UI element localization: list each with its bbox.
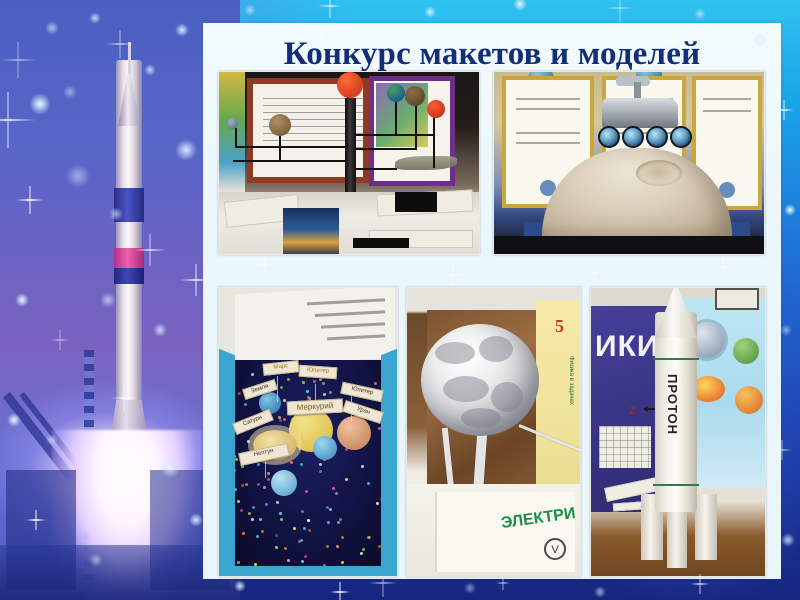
p1-planet-mars bbox=[427, 100, 445, 118]
glitter-speck bbox=[252, 506, 255, 509]
content-panel: Конкурс макетов и моделей bbox=[203, 23, 781, 579]
glitter-speck bbox=[341, 561, 344, 564]
photo-5-content: ИКИ 2 bbox=[591, 288, 765, 576]
glitter-speck bbox=[279, 419, 282, 422]
glitter-speck bbox=[376, 502, 379, 505]
p1-orbit-arm-1 bbox=[237, 146, 349, 148]
glitter-speck bbox=[303, 527, 306, 530]
glitter-speck bbox=[368, 536, 371, 539]
glitter-speck bbox=[337, 521, 340, 524]
glitter-speck bbox=[335, 492, 338, 495]
glitter-speck bbox=[293, 527, 296, 530]
p3-label-mercury: Меркурий bbox=[287, 399, 344, 416]
glitter-speck bbox=[305, 490, 308, 493]
glitter-speck bbox=[319, 463, 322, 466]
p3-planet-uranus bbox=[271, 470, 297, 496]
p5-drawn-planet-2 bbox=[733, 338, 759, 364]
p2-floor-shadow bbox=[494, 236, 764, 254]
glitter-speck bbox=[261, 530, 264, 533]
p3-planet-jupiter bbox=[337, 416, 371, 450]
star-sparkle bbox=[464, 582, 476, 594]
rocket-band-blue-lower bbox=[114, 268, 144, 284]
p5-wall-frame bbox=[715, 288, 759, 310]
p2-rover-body bbox=[602, 98, 678, 128]
glitter-speck bbox=[287, 559, 290, 562]
star-sparkle bbox=[330, 582, 350, 600]
glitter-speck bbox=[374, 382, 377, 385]
glitter-speck bbox=[237, 561, 240, 564]
glitter-speck bbox=[300, 463, 303, 466]
star-sparkle bbox=[606, 0, 634, 22]
p5-poster-number: 2 bbox=[629, 402, 636, 418]
glitter-speck bbox=[284, 547, 287, 550]
glitter-speck bbox=[327, 521, 330, 524]
p1-orbit-arm-2 bbox=[233, 160, 351, 162]
glitter-speck bbox=[241, 484, 244, 487]
photo-solar-system-mobile-model[interactable] bbox=[218, 71, 480, 255]
p5-poster-word-fiziki: ИКИ bbox=[595, 330, 659, 364]
glitter-speck bbox=[313, 380, 316, 383]
p1-color-poster bbox=[219, 72, 245, 192]
p5-rocket-ring-upper bbox=[653, 358, 699, 360]
glitter-speck bbox=[302, 381, 305, 384]
glitter-speck bbox=[267, 478, 270, 481]
glitter-speck bbox=[242, 532, 245, 535]
p1-space-photo-print bbox=[283, 208, 339, 255]
rocket-band-magenta bbox=[114, 248, 144, 268]
glitter-speck bbox=[251, 518, 254, 521]
glitter-speck bbox=[300, 539, 303, 542]
glitter-speck bbox=[307, 396, 310, 399]
p5-rocket-ring-lower bbox=[653, 484, 699, 486]
photo-gallery: Земля Марс Юпитер Юпитер Меркурий Сатурн… bbox=[203, 23, 781, 579]
glitter-speck bbox=[322, 382, 325, 385]
p2-moon-crater bbox=[636, 160, 682, 186]
glitter-speck bbox=[257, 483, 260, 486]
star-sparkle bbox=[694, 8, 706, 20]
p1-orbit-stem-5 bbox=[415, 100, 417, 150]
p4-yellow-poster: 5 Физика в задачах bbox=[536, 300, 580, 488]
p3-box-rim-left bbox=[219, 349, 235, 577]
glitter-speck bbox=[245, 483, 248, 486]
p4-circle-letter: V bbox=[544, 538, 566, 560]
p3-label-jupiter-top: Юпитер bbox=[299, 365, 338, 380]
p1-orbit-stem-6 bbox=[433, 112, 435, 168]
glitter-speck bbox=[301, 560, 304, 563]
p1-orbit-arm-5 bbox=[351, 168, 397, 170]
rocket-escape-tower bbox=[128, 42, 131, 74]
glitter-speck bbox=[265, 503, 268, 506]
slide-canvas: Конкурс макетов и моделей bbox=[0, 0, 800, 600]
p1-planet-neptune bbox=[387, 84, 405, 102]
photo-2-content bbox=[494, 72, 764, 254]
photo-3-content: Земля Марс Юпитер Юпитер Меркурий Сатурн… bbox=[219, 288, 397, 576]
p1-orbit-stem-1 bbox=[235, 128, 237, 148]
glitter-speck bbox=[339, 518, 342, 521]
glitter-speck bbox=[279, 512, 282, 515]
glitter-speck bbox=[283, 418, 286, 421]
glitter-speck bbox=[257, 463, 260, 466]
p3-planet-neptune bbox=[313, 436, 337, 460]
glitter-speck bbox=[307, 519, 310, 522]
p2-rover-wheel-1 bbox=[598, 126, 620, 148]
glitter-speck bbox=[263, 486, 266, 489]
glitter-speck bbox=[326, 545, 329, 548]
p1-planet-saturn bbox=[405, 86, 425, 106]
photo-1-content bbox=[219, 72, 479, 254]
p2-rover-wheel-2 bbox=[622, 126, 644, 148]
p2-rover-wheel-3 bbox=[646, 126, 668, 148]
glitter-speck bbox=[345, 478, 348, 481]
glitter-speck bbox=[235, 458, 238, 461]
p5-rocket-name-label: ПРОТОН bbox=[665, 374, 680, 435]
glitter-speck bbox=[259, 518, 262, 521]
glitter-speck bbox=[290, 461, 293, 464]
glitter-speck bbox=[319, 470, 322, 473]
glitter-speck bbox=[238, 392, 241, 395]
p1-orbit-stem-4 bbox=[395, 96, 397, 136]
glitter-speck bbox=[280, 518, 283, 521]
p1-airplane-model-photo bbox=[395, 156, 457, 170]
glitter-speck bbox=[251, 373, 254, 376]
glitter-speck bbox=[360, 552, 363, 555]
p5-drawn-planet-4 bbox=[735, 386, 763, 414]
glitter-speck bbox=[287, 378, 290, 381]
glitter-speck bbox=[304, 555, 307, 558]
glitter-speck bbox=[267, 472, 270, 475]
glitter-speck bbox=[367, 482, 370, 485]
glitter-speck bbox=[275, 534, 278, 537]
glitter-speck bbox=[276, 501, 279, 504]
glitter-speck bbox=[362, 548, 365, 551]
glitter-speck bbox=[278, 416, 281, 419]
star-sparkle bbox=[513, 0, 527, 11]
glitter-speck bbox=[244, 403, 247, 406]
p3-box-rim-right bbox=[381, 349, 397, 577]
p4-foil-sphere bbox=[421, 324, 539, 436]
glitter-speck bbox=[308, 529, 311, 532]
p2-rover-wheel-4 bbox=[670, 126, 692, 148]
photo-solar-system-diorama-box[interactable]: Земля Марс Юпитер Юпитер Меркурий Сатурн… bbox=[218, 287, 398, 577]
p3-label-stick-4 bbox=[299, 422, 300, 450]
glitter-speck bbox=[319, 378, 322, 381]
glitter-speck bbox=[240, 509, 243, 512]
p3-box-rim-bottom bbox=[219, 566, 398, 576]
glitter-speck bbox=[280, 386, 283, 389]
glitter-speck bbox=[301, 510, 304, 513]
p1-dark-card-1 bbox=[395, 192, 437, 212]
glitter-speck bbox=[329, 391, 332, 394]
p1-planet-jupiter bbox=[269, 114, 291, 136]
glitter-speck bbox=[306, 390, 309, 393]
p1-planet-small-1 bbox=[227, 118, 238, 129]
rocket-band-blue-upper bbox=[114, 188, 144, 222]
glitter-speck bbox=[237, 500, 240, 503]
glitter-speck bbox=[332, 487, 335, 490]
p4-poster-subject: Физика в задачах bbox=[568, 356, 574, 405]
p3-info-sheet bbox=[235, 287, 395, 366]
glitter-speck bbox=[329, 508, 332, 511]
p5-rocket-fin-right bbox=[695, 494, 717, 560]
p1-dark-card-2 bbox=[353, 238, 409, 248]
glitter-speck bbox=[341, 536, 344, 539]
glitter-speck bbox=[275, 546, 278, 549]
p1-orbit-arm-3 bbox=[351, 134, 435, 136]
photo-lunokhod-moon-surface-model[interactable] bbox=[493, 71, 765, 255]
star-sparkle bbox=[424, 6, 436, 18]
p5-crossword-grid bbox=[599, 426, 651, 468]
p1-planet-sun bbox=[337, 72, 363, 98]
glitter-speck bbox=[361, 465, 364, 468]
p2-rover-antenna-dish bbox=[616, 76, 650, 86]
glitter-speck bbox=[247, 440, 250, 443]
photo-4-content: 5 Физика в задачах ЭЛЕКТР bbox=[407, 288, 580, 576]
glitter-speck bbox=[256, 535, 259, 538]
photo-foil-sputnik-model[interactable]: 5 Физика в задачах ЭЛЕКТР bbox=[406, 287, 581, 577]
p4-poster-number: 5 bbox=[555, 316, 564, 337]
glitter-speck bbox=[248, 512, 251, 515]
glitter-speck bbox=[336, 545, 339, 548]
photo-paper-rocket-proton[interactable]: ИКИ 2 bbox=[590, 287, 766, 577]
p1-orbit-arm-4 bbox=[351, 148, 417, 150]
glitter-speck bbox=[323, 393, 326, 396]
